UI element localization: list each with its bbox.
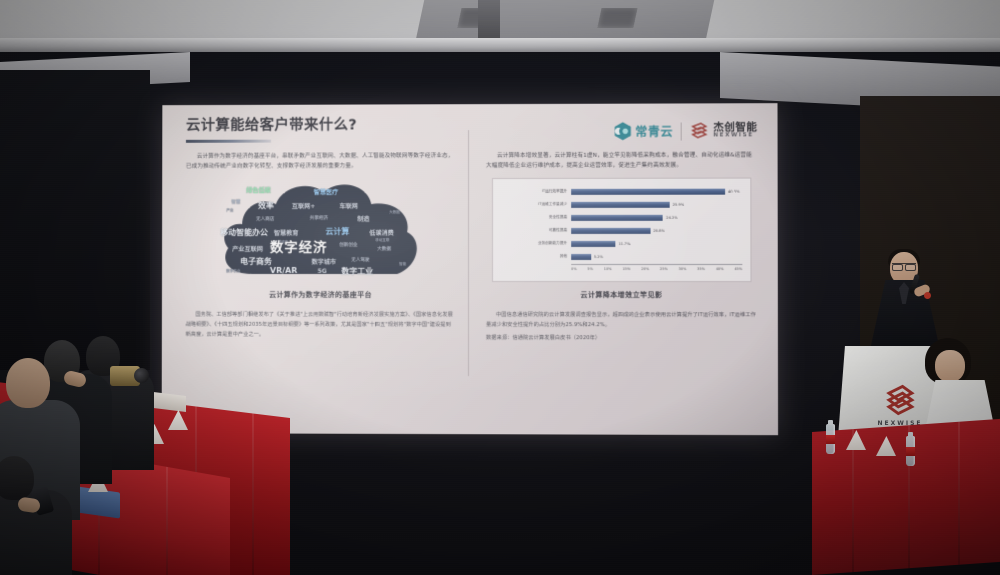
logo-group: 常青云 杰创智能 NEXWISE bbox=[614, 117, 757, 140]
logo-nexwise-label-cn: 杰创智能 bbox=[713, 122, 757, 133]
right-note: 中国信息通信研究院的云计算发展调查报告显示，超四成的企业表示使用云计算提升了IT… bbox=[486, 310, 758, 331]
bar-track: 40.5% bbox=[571, 185, 742, 198]
bar-chart-row: 可靠性提高20.8% bbox=[499, 224, 742, 237]
x-axis-tick-label: 5% bbox=[588, 267, 594, 271]
water-bottle bbox=[826, 424, 835, 454]
bar-chart-row: 安全性提高24.2% bbox=[499, 211, 742, 224]
left-paragraph: 云计算作为数字经济的基座平台，串联矛数产业互联网、大数据、人工智能及物联网等数字… bbox=[186, 151, 456, 172]
title-underline bbox=[186, 140, 271, 143]
bar-category-label: IT运维工作量减少 bbox=[499, 203, 571, 207]
word-cloud-term: 智能 bbox=[399, 262, 406, 267]
word-cloud-term: 移动互联 bbox=[375, 238, 389, 243]
camera-icon bbox=[110, 366, 140, 386]
word-cloud-term: 创新创业 bbox=[339, 242, 357, 248]
stacked-layers-icon bbox=[690, 121, 709, 140]
slide-column-left: 云计算作为数字经济的基座平台，串联矛数产业互联网、大数据、人工智能及物联网等数字… bbox=[185, 151, 470, 423]
speaker bbox=[868, 252, 942, 348]
bar-category-label: IT运行效率提升 bbox=[499, 190, 571, 194]
logo-changqingyun-label: 常青云 bbox=[635, 123, 673, 140]
slide-title: 云计算能给客户带来什么? bbox=[186, 118, 357, 134]
glasses-icon bbox=[892, 263, 916, 268]
x-axis-tick-label: 0% bbox=[571, 267, 577, 271]
audience-group-left bbox=[0, 330, 180, 575]
word-cloud-term: 低碳消费 bbox=[369, 228, 394, 237]
right-source: 数据来源：信通院云计算发展白皮书（2020年） bbox=[486, 333, 758, 344]
right-figure-caption: 云计算降本增效立竿见影 bbox=[486, 290, 758, 300]
bar-category-label: 其他 bbox=[499, 255, 571, 259]
bar bbox=[571, 215, 663, 221]
x-axis-tick-label: 40% bbox=[716, 267, 724, 271]
x-axis-tick-label: 45% bbox=[735, 267, 743, 271]
logo-nexwise: 杰创智能 NEXWISE bbox=[690, 121, 757, 140]
bar-value-label: 25.9% bbox=[673, 203, 685, 207]
word-cloud-term: 大数据 bbox=[377, 246, 391, 252]
bar-value-label: 5.2% bbox=[594, 255, 603, 259]
bar-value-label: 11.7% bbox=[619, 242, 630, 246]
x-axis-tick-label: 10% bbox=[604, 267, 612, 271]
bar bbox=[571, 228, 650, 234]
word-cloud-term: 制造 bbox=[357, 214, 369, 223]
word-cloud-term: 车联网 bbox=[339, 201, 357, 210]
logo-changqingyun: 常青云 bbox=[614, 122, 673, 141]
stacked-cube-icon bbox=[883, 382, 917, 418]
logo-nexwise-label-en: NEXWISE bbox=[713, 134, 757, 140]
audience-member-head bbox=[6, 358, 50, 408]
word-cloud-term: 智慧 bbox=[231, 199, 240, 205]
word-cloud-term: 智慧医疗 bbox=[314, 187, 339, 196]
slide-header: 云计算能给客户带来什么? 常青云 bbox=[186, 117, 757, 142]
bar-track: 24.2% bbox=[571, 211, 742, 224]
bar-track: 20.8% bbox=[571, 224, 742, 237]
word-cloud-term: 效率 bbox=[258, 200, 274, 211]
bar-track: 11.7% bbox=[571, 237, 742, 250]
word-cloud-term: 产业 bbox=[226, 208, 233, 213]
conference-hall-scene: 云计算能给客户带来什么? 常青云 bbox=[0, 0, 1000, 575]
bar-chart: IT运行效率提升40.5%IT运维工作量减少25.9%安全性提高24.2%可靠性… bbox=[492, 177, 752, 282]
right-paragraph: 云计算降本增效显著，云计算柱有1虚N，能立竿见影降低采购成本，融合管理、自动化运… bbox=[486, 150, 757, 171]
word-cloud-term: 电子商务 bbox=[240, 256, 272, 267]
word-cloud-term: 云计算 bbox=[325, 226, 349, 237]
x-axis-tick-label: 35% bbox=[697, 267, 705, 271]
bar-value-label: 40.5% bbox=[728, 190, 740, 194]
presentation-slide: 云计算能给客户带来什么? 常青云 bbox=[162, 103, 778, 435]
bar bbox=[571, 241, 615, 247]
attendee-face bbox=[935, 350, 965, 382]
x-axis-tick-label: 25% bbox=[660, 267, 668, 271]
ceiling-light-slot bbox=[556, 0, 715, 40]
bar-value-label: 20.8% bbox=[653, 229, 665, 233]
word-cloud-term: 大数据 bbox=[389, 210, 400, 215]
word-cloud-term: 无人商店 bbox=[256, 216, 274, 222]
x-axis-tick-label: 20% bbox=[641, 267, 649, 271]
x-axis-tick-label: 15% bbox=[623, 267, 631, 271]
bar-category-label: 安全性提高 bbox=[499, 216, 571, 220]
bar-chart-row: 业务创新能力提升11.7% bbox=[499, 237, 742, 250]
word-cloud-hero-term: 数字经济 bbox=[270, 236, 328, 256]
bar-track: 25.9% bbox=[571, 198, 742, 211]
bar-category-label: 可靠性提高 bbox=[499, 229, 571, 233]
logo-divider bbox=[681, 122, 682, 140]
word-cloud: 绿色低碳智慧医疗效率互联网+车联网智慧产业无人商店共享经济制造大数据移动智能办公… bbox=[218, 178, 423, 282]
bar bbox=[571, 254, 591, 260]
bar-chart-figure: IT运行效率提升40.5%IT运维工作量减少25.9%安全性提高24.2%可靠性… bbox=[486, 177, 758, 282]
slide-columns: 云计算作为数字经济的基座平台，串联矛数产业互联网、大数据、人工智能及物联网等数字… bbox=[185, 150, 757, 424]
word-cloud-term: 数字农业 bbox=[226, 269, 240, 274]
bar-category-label: 业务创新能力提升 bbox=[499, 242, 571, 246]
lapel-badge bbox=[924, 292, 931, 299]
water-bottle bbox=[906, 436, 915, 466]
word-cloud-term: VR/AR bbox=[270, 266, 297, 275]
word-cloud-term: 产业互联网 bbox=[232, 244, 263, 253]
word-cloud-term: 互联网+ bbox=[292, 201, 316, 210]
bar bbox=[571, 189, 725, 195]
wall-panel-left bbox=[0, 70, 150, 370]
word-cloud-figure: 绿色低碳智慧医疗效率互联网+车联网智慧产业无人商店共享经济制造大数据移动智能办公… bbox=[186, 178, 456, 282]
slide-column-right: 云计算降本增效显著，云计算柱有1虚N，能立竿见影降低采购成本，融合管理、自动化运… bbox=[470, 150, 758, 424]
word-cloud-term: 无人驾驶 bbox=[351, 257, 369, 263]
word-cloud-terms: 绿色低碳智慧医疗效率互联网+车联网智慧产业无人商店共享经济制造大数据移动智能办公… bbox=[218, 178, 423, 282]
word-cloud-term: 共享经济 bbox=[310, 215, 328, 221]
bar-chart-row: 其他5.2% bbox=[499, 251, 742, 264]
word-cloud-term: 移动智能办公 bbox=[220, 227, 268, 238]
word-cloud-term: 5G bbox=[318, 268, 327, 275]
word-cloud-term: 数字工业 bbox=[341, 266, 373, 277]
ceiling-beam bbox=[0, 38, 1000, 52]
left-figure-caption: 云计算作为数字经济的基座平台 bbox=[186, 290, 456, 300]
bar-track: 5.2% bbox=[571, 251, 742, 264]
bar-chart-plot: IT运行效率提升40.5%IT运维工作量减少25.9%安全性提高24.2%可靠性… bbox=[499, 185, 742, 263]
left-note: 国务院、工信部等部门相继发布了《关于推进"上云用数赋智"行动培育新经济发展实施方… bbox=[186, 309, 456, 340]
x-axis-tick-label: 30% bbox=[678, 267, 686, 271]
hexagon-cloud-icon bbox=[614, 122, 631, 141]
bar-chart-x-axis: 0%5%10%15%20%25%30%35%40%45% bbox=[571, 264, 742, 271]
bar bbox=[571, 202, 669, 208]
bar-chart-row: IT运行效率提升40.5% bbox=[499, 185, 742, 198]
bar-chart-row: IT运维工作量减少25.9% bbox=[499, 198, 742, 211]
word-cloud-term: 数字城市 bbox=[312, 257, 337, 266]
bar-value-label: 24.2% bbox=[666, 216, 678, 220]
word-cloud-term: 绿色低碳 bbox=[246, 185, 271, 194]
audience-member-head bbox=[0, 456, 34, 500]
